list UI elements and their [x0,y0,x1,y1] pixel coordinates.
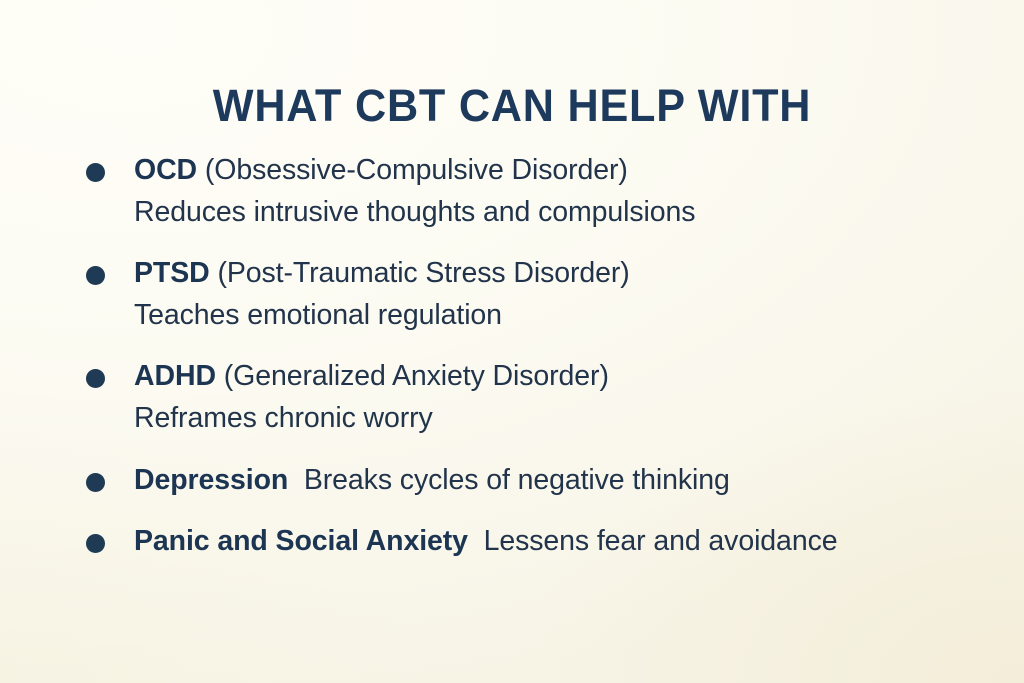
list-item-term: PTSD [134,257,210,289]
list-item-term: Depression [134,464,288,496]
list-item: ADHD (Generalized Anxiety Disorder)Refra… [78,356,978,439]
list-item-qualifier: (Generalized Anxiety Disorder) [224,360,609,392]
list-item-description: Reduces intrusive thoughts and compulsio… [134,196,695,228]
list-item-description: Reframes chronic worry [134,402,433,434]
list-item-qualifier: (Post-Traumatic Stress Disorder) [217,257,629,289]
list-item: PTSD (Post-Traumatic Stress Disorder)Tea… [78,253,978,336]
bullet-icon [86,369,105,388]
bullet-icon [86,473,105,492]
list-item-term: Panic and Social Anxiety [134,525,468,557]
slide-canvas: WHAT CBT CAN HELP WITH OCD (Obsessive-Co… [0,0,1024,683]
list-item-term: ADHD [134,360,216,392]
page-title: WHAT CBT CAN HELP WITH [20,82,1003,129]
bullet-icon [86,266,105,285]
condition-list: OCD (Obsessive-Compulsive Disorder)Reduc… [78,150,978,563]
list-item-description: Lessens fear and avoidance [484,525,838,557]
list-item-description: Breaks cycles of negative thinking [304,464,730,496]
list-item-term: OCD [134,154,197,186]
bullet-icon [86,534,105,553]
list-item-description: Teaches emotional regulation [134,299,502,331]
list-item: Panic and Social Anxiety Lessens fear an… [78,521,978,563]
list-item-qualifier: (Obsessive-Compulsive Disorder) [205,154,628,186]
list-item: OCD (Obsessive-Compulsive Disorder)Reduc… [78,150,978,233]
list-item: Depression Breaks cycles of negative thi… [78,460,978,502]
bullet-icon [86,163,105,182]
